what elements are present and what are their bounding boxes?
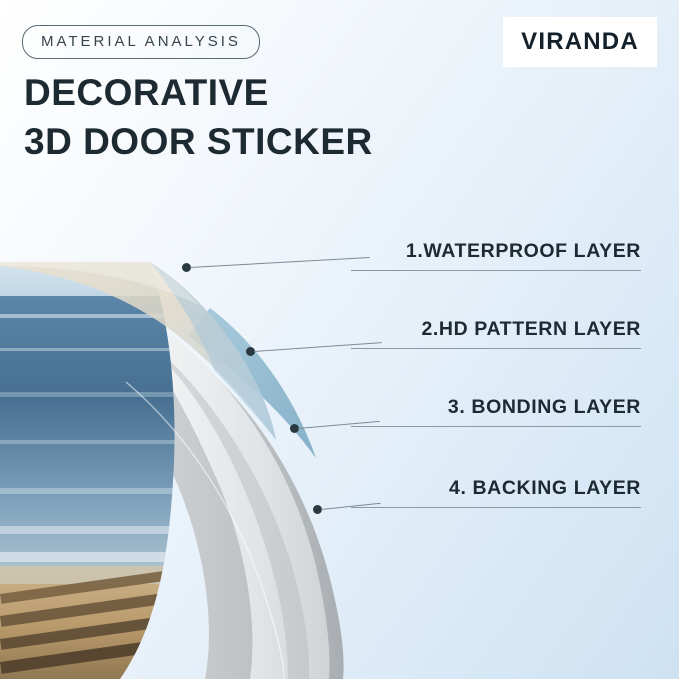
callout-hd-pattern-layer: 2.HD PATTERN LAYER bbox=[351, 318, 641, 349]
callout-bonding-layer: 3. BONDING LAYER bbox=[351, 396, 641, 427]
brand-name: VIRANDA bbox=[521, 28, 639, 56]
page-title: DECORATIVE 3D DOOR STICKER bbox=[24, 68, 373, 166]
poster-canvas: MATERIAL ANALYSIS DECORATIVE 3D DOOR STI… bbox=[0, 0, 679, 679]
brand-logo-box: VIRANDA bbox=[503, 17, 657, 67]
page-title-line-2: 3D DOOR STICKER bbox=[24, 117, 373, 166]
callout-backing-layer: 4. BACKING LAYER bbox=[351, 477, 641, 508]
callout-waterproof-layer: 1.WATERPROOF LAYER bbox=[351, 240, 641, 271]
eyebrow-badge: MATERIAL ANALYSIS bbox=[22, 25, 260, 59]
page-title-line-1: DECORATIVE bbox=[24, 68, 373, 117]
